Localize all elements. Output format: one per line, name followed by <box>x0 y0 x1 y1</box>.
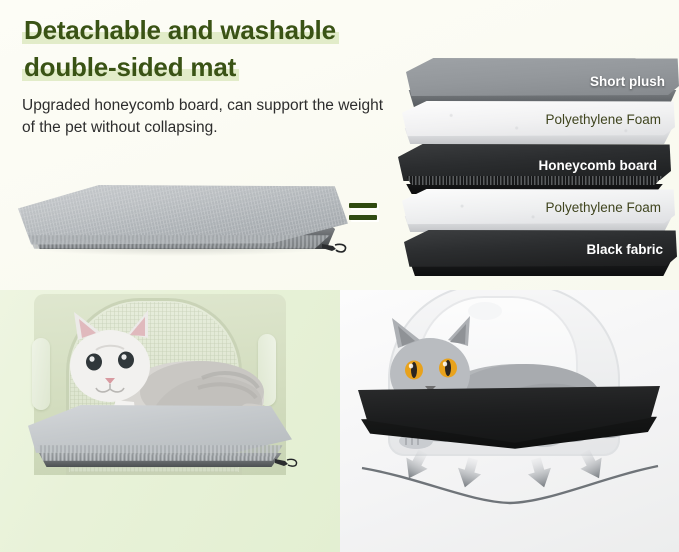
headline-line-1: Detachable and washable <box>24 14 336 46</box>
zipper-pull-icon <box>320 239 350 255</box>
gray-mat-photo <box>18 185 348 275</box>
layer-5-label: Black fabric <box>586 242 663 257</box>
layer-1-label: Short plush <box>590 74 665 89</box>
layer-3-label: Honeycomb board <box>538 158 657 173</box>
honeycomb-mat-fuzzy-edge <box>30 445 288 461</box>
product-infographic: Detachable and washable double-sided mat… <box>0 0 679 552</box>
equals-sign <box>349 200 379 224</box>
comparison-panel-honeycomb: Honeycomb board <box>0 290 340 552</box>
zipper-pull-icon-left <box>274 455 300 469</box>
headline-text-2: double-sided mat <box>24 52 236 82</box>
mat-fuzzy-front-edge <box>22 235 330 249</box>
sagging-pp-board <box>340 386 679 462</box>
headline: Detachable and washable double-sided mat <box>24 14 404 83</box>
layer-black-fabric: Black fabric <box>404 230 677 276</box>
layer-3-corrugated-flutes <box>403 176 662 185</box>
layer-stack-diagram: Short plush Polyethylene Foam Honeycomb … <box>398 58 679 276</box>
headline-text-1: Detachable and washable <box>24 15 336 45</box>
equals-bar-top <box>349 203 377 208</box>
layer-polyethylene-foam-upper: Polyethylene Foam <box>402 101 675 146</box>
equals-bar-bottom <box>349 215 377 220</box>
layer-2-label: Polyethylene Foam <box>545 112 661 127</box>
honeycomb-mat <box>28 405 292 473</box>
comparison-section: Honeycomb board <box>0 290 679 552</box>
top-section: Detachable and washable double-sided mat… <box>0 0 679 290</box>
comparison-panel-pp-board: PP board <box>340 290 679 552</box>
layer-4-label: Polyethylene Foam <box>545 200 661 215</box>
layer-polyethylene-foam-lower: Polyethylene Foam <box>402 189 675 234</box>
layer-honeycomb-board: Honeycomb board <box>398 144 671 194</box>
carrier-handle-left <box>32 338 50 410</box>
headline-line-2: double-sided mat <box>24 51 236 83</box>
subtitle-text: Upgraded honeycomb board, can support th… <box>22 95 394 139</box>
